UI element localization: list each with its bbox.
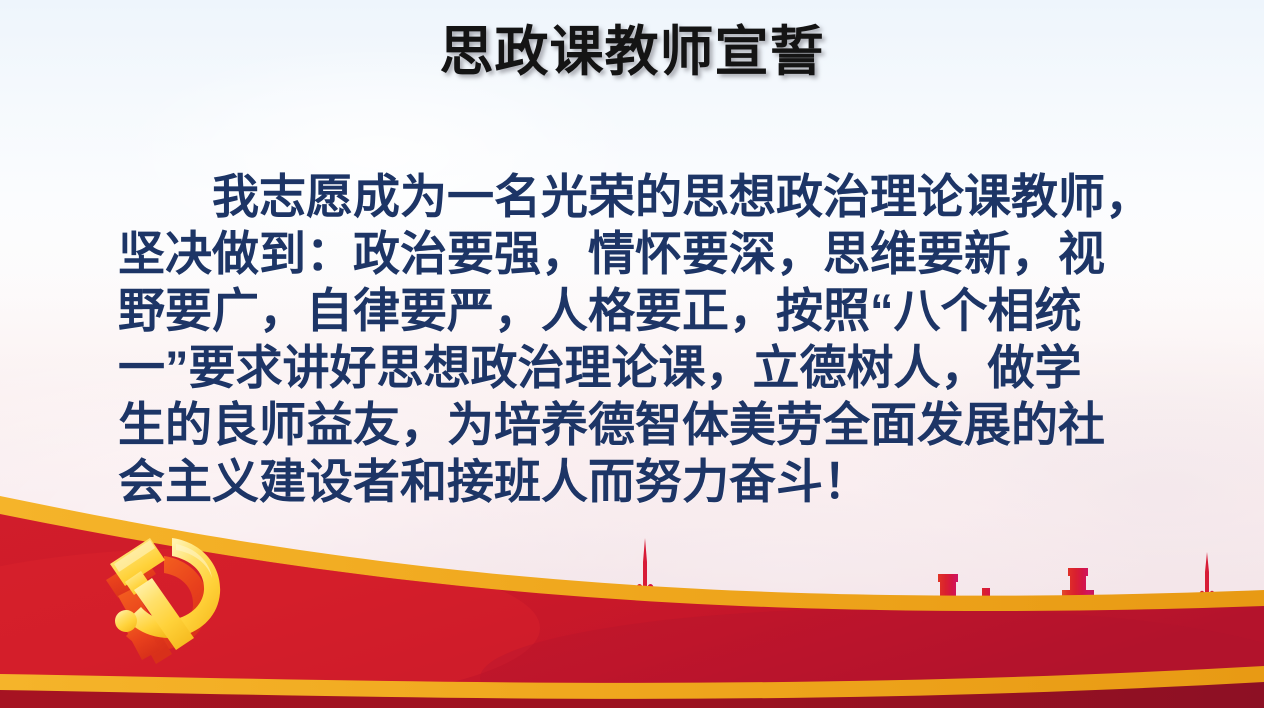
cpc-emblem bbox=[72, 520, 262, 670]
oath-line-3: 野要广，自律要严，人格要正，按照“八个相统 bbox=[118, 282, 1160, 339]
oath-line-5: 生的良师益友，为培养德智体美劳全面发展的社 bbox=[118, 396, 1160, 453]
oath-line-2: 坚决做到：政治要强，情怀要深，思维要新，视 bbox=[118, 225, 1160, 282]
slide-title: 思政课教师宣誓 bbox=[440, 22, 825, 82]
oath-line-1: 我志愿成为一名光荣的思想政治理论课教师， bbox=[118, 168, 1160, 225]
oath-line-6: 会主义建设者和接班人而努力奋斗！ bbox=[118, 453, 1160, 510]
slide-title-container: 思政课教师宣誓 bbox=[0, 22, 1264, 82]
oath-text-block: 我志愿成为一名光荣的思想政治理论课教师， 坚决做到：政治要强，情怀要深，思维要新… bbox=[118, 168, 1160, 510]
slide-canvas: 思政课教师宣誓 我志愿成为一名光荣的思想政治理论课教师， 坚决做到：政治要强，情… bbox=[0, 0, 1264, 708]
oath-line-4: 一”要求讲好思想政治理论课，立德树人，做学 bbox=[118, 339, 1160, 396]
